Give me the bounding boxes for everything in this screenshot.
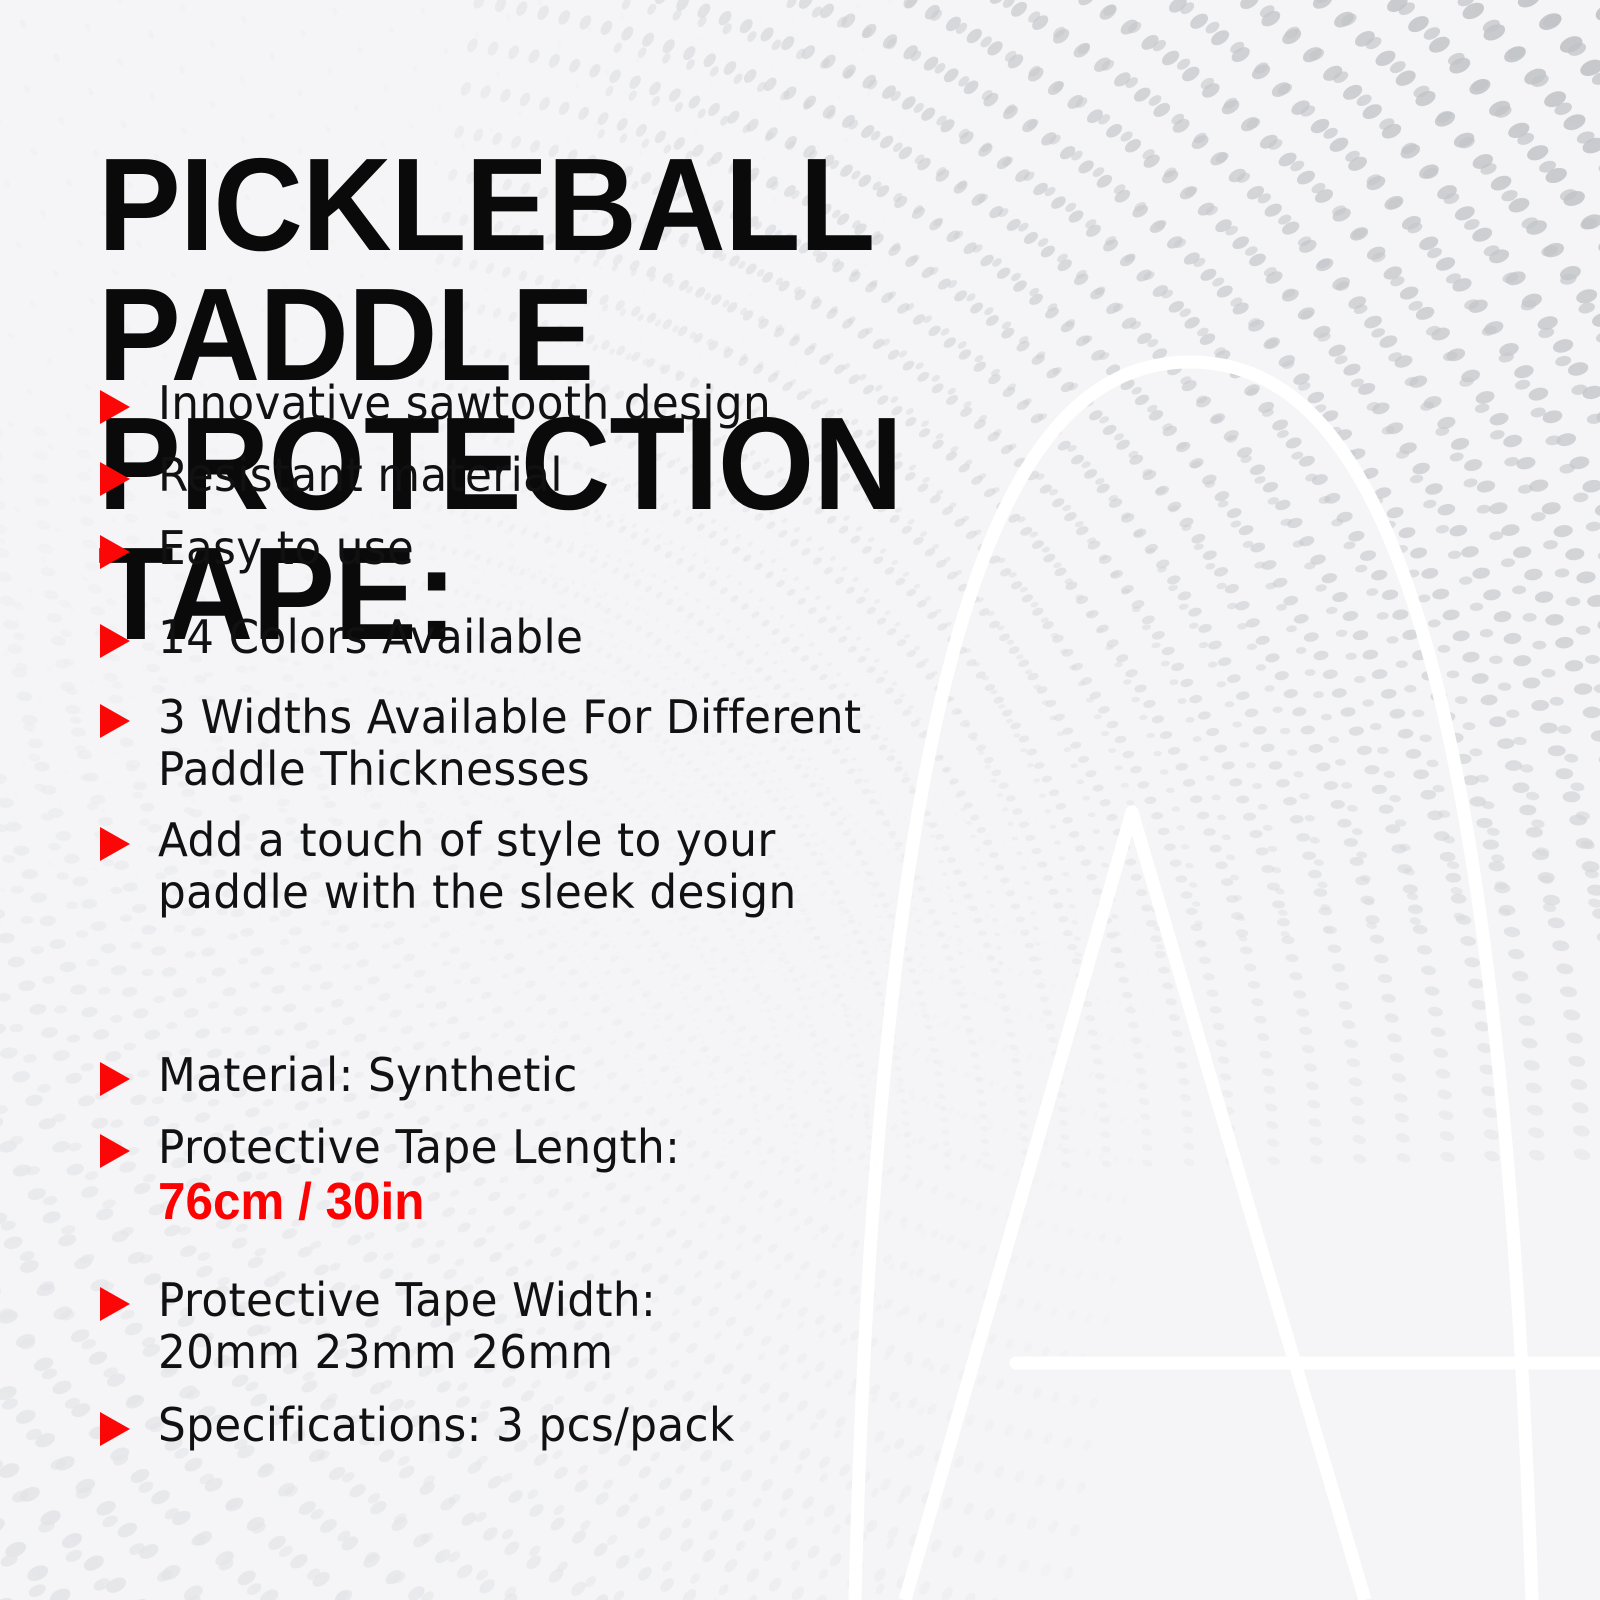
red-triangle-icon (100, 624, 130, 658)
red-triangle-icon (100, 1134, 130, 1168)
spec-item-label: Specifications: 3 pcs/pack (158, 1400, 735, 1452)
list-item: 14 Colors Available (100, 612, 606, 664)
red-triangle-icon (100, 462, 130, 496)
spec-item: Material: Synthetic (100, 1050, 600, 1102)
list-item: Innovative sawtooth design (100, 378, 803, 430)
red-triangle-icon (100, 1287, 130, 1321)
list-item-label: 14 Colors Available (158, 612, 583, 664)
spec-item: Protective Tape Length:76cm / 30in (100, 1122, 708, 1231)
list-item: 3 Widths Available For Different Paddle … (100, 692, 899, 795)
spec-item: Specifications: 3 pcs/pack (100, 1400, 765, 1452)
red-triangle-icon (100, 704, 130, 738)
red-triangle-icon (100, 535, 130, 569)
list-item-label: Resistant material (158, 450, 563, 502)
list-item-label: 3 Widths Available For Different Paddle … (158, 692, 862, 795)
red-triangle-icon (100, 1062, 130, 1096)
spec-item: Protective Tape Width: 20mm 23mm 26mm (100, 1275, 682, 1378)
list-item-label: Innovative sawtooth design (158, 378, 771, 430)
product-infographic-poster: PICKLEBALL PADDLE PROTECTION TAPE: Innov… (0, 0, 1600, 1600)
list-item: Add a touch of style to your paddle with… (100, 815, 830, 918)
spec-item-label: Protective Tape Width: 20mm 23mm 26mm (158, 1275, 656, 1378)
spec-item-label: Material: Synthetic (158, 1050, 578, 1102)
red-triangle-icon (100, 827, 130, 861)
red-triangle-icon (100, 390, 130, 424)
list-item-label: Easy to use (158, 523, 414, 575)
spec-item-label: Protective Tape Length:76cm / 30in (158, 1122, 680, 1231)
list-item-label: Add a touch of style to your paddle with… (158, 815, 797, 918)
list-item: Easy to use (100, 523, 428, 575)
red-triangle-icon (100, 1412, 130, 1446)
triangle-outline-shape (905, 812, 1365, 1600)
spec-item-text: Protective Tape Length: (158, 1120, 680, 1174)
tape-length-highlight: 76cm / 30in (158, 1174, 680, 1231)
list-item: Resistant material (100, 450, 584, 502)
